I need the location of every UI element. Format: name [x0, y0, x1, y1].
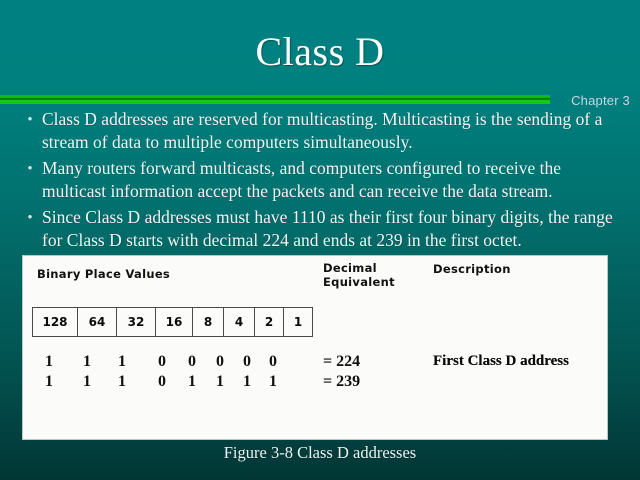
figure-header-decimal-line1: Decimal: [323, 261, 395, 275]
bullet-text: Many routers forward multicasts, and com…: [42, 157, 618, 203]
list-item: • Since Class D addresses must have 1110…: [18, 206, 618, 252]
binary-digit: 1: [40, 373, 58, 391]
figure-caption: Figure 3-8 Class D addresses: [0, 443, 640, 463]
place-value-cell: 128: [33, 308, 78, 337]
bullet-text: Since Class D addresses must have 1110 a…: [42, 206, 618, 252]
table-row: 128 64 32 16 8 4 2 1: [33, 308, 313, 337]
decimal-equivalent: = 224: [323, 353, 360, 371]
binary-digit: 0: [264, 353, 282, 371]
binary-digit: 1: [264, 373, 282, 391]
place-value-cell: 32: [117, 308, 156, 337]
title-rule-group: Chapter 3: [0, 93, 640, 107]
figure-header-binary-place-values: Binary Place Values: [37, 267, 170, 281]
binary-digit: 1: [78, 353, 96, 371]
place-value-cell: 16: [156, 308, 193, 337]
binary-digit: 1: [40, 353, 58, 371]
figure-header-description: Description: [433, 262, 511, 276]
place-value-cell: 8: [193, 308, 224, 337]
list-item: • Class D addresses are reserved for mul…: [18, 108, 618, 154]
binary-digit: 0: [153, 373, 171, 391]
slide-canvas: Class D Chapter 3 • Class D addresses ar…: [0, 0, 640, 480]
binary-rows: 1 1 1 0 0 0 0 0 = 224 First Class D addr…: [23, 353, 609, 393]
place-value-cell: 64: [78, 308, 117, 337]
binary-digit: 0: [211, 353, 229, 371]
binary-digit: 1: [113, 373, 131, 391]
green-divider-rule: [0, 95, 550, 104]
figure-header-decimal-line2: Equivalent: [323, 275, 395, 289]
binary-digit: 1: [183, 373, 201, 391]
binary-digit: 1: [211, 373, 229, 391]
binary-digit: 1: [238, 373, 256, 391]
place-value-cell: 1: [284, 308, 313, 337]
figure-header-decimal-equivalent: Decimal Equivalent: [323, 261, 395, 289]
page-title: Class D: [0, 28, 640, 75]
place-value-table: 128 64 32 16 8 4 2 1: [32, 307, 313, 337]
binary-digit: 0: [238, 353, 256, 371]
chapter-label: Chapter 3: [571, 93, 630, 108]
binary-digit: 1: [113, 353, 131, 371]
binary-digit: 1: [78, 373, 96, 391]
bullet-list: • Class D addresses are reserved for mul…: [18, 108, 618, 255]
figure-panel: Binary Place Values Decimal Equivalent D…: [22, 255, 608, 440]
bullet-dot-icon: •: [18, 108, 42, 132]
place-value-cell: 4: [224, 308, 255, 337]
binary-digit: 0: [183, 353, 201, 371]
list-item: • Many routers forward multicasts, and c…: [18, 157, 618, 203]
bullet-text: Class D addresses are reserved for multi…: [42, 108, 618, 154]
bullet-dot-icon: •: [18, 157, 42, 181]
row-description: First Class D address: [433, 353, 569, 370]
bullet-dot-icon: •: [18, 206, 42, 230]
binary-digit: 0: [153, 353, 171, 371]
table-row: 1 1 1 0 1 1 1 1 = 239 First Class D addr…: [23, 373, 609, 393]
place-value-cell: 2: [255, 308, 284, 337]
decimal-equivalent: = 239: [323, 373, 360, 391]
